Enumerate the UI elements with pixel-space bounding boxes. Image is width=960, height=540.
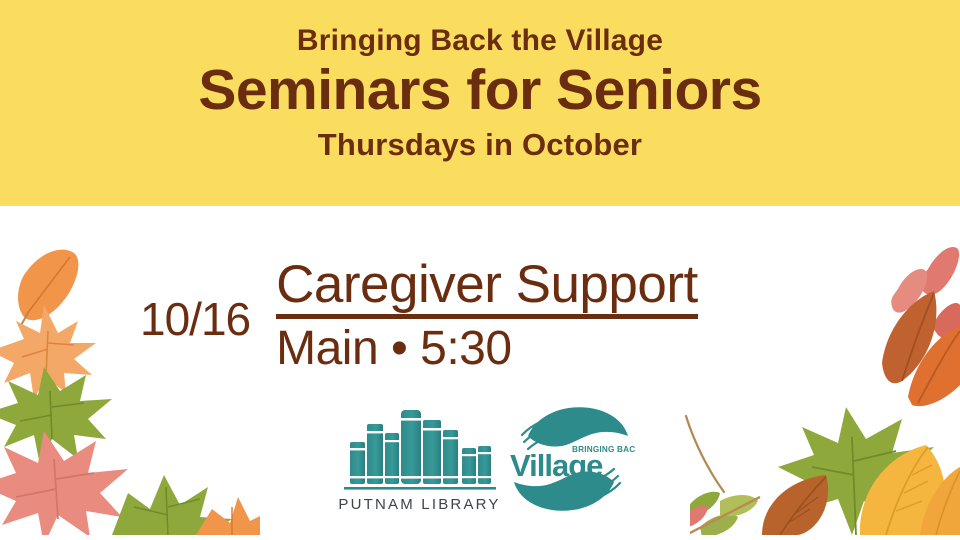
event-title: Caregiver Support: [276, 258, 698, 319]
event-location-time: Main • 5:30: [276, 324, 698, 374]
logo-strip: PUTNAM LIBRARY: [330, 402, 650, 528]
seminar-flyer: Bringing Back the Village Seminars for S…: [0, 0, 960, 540]
putnam-library-logo[interactable]: PUTNAM LIBRARY: [340, 402, 500, 513]
event-date: 10/16: [140, 258, 250, 342]
event-entry: 10/16 Caregiver Support Main • 5:30: [140, 258, 698, 374]
bringing-back-the-village-logo[interactable]: BRINGING BACK THE Village: [506, 402, 641, 519]
svg-text:Village: Village: [510, 448, 603, 483]
banner-headline-main: Seminars for Seniors: [198, 62, 761, 119]
event-details: Caregiver Support Main • 5:30: [276, 258, 698, 374]
library-wordmark: PUTNAM LIBRARY: [338, 496, 500, 513]
banner-headline-top: Bringing Back the Village: [297, 26, 663, 56]
cupped-hands-icon: BRINGING BACK THE Village: [506, 402, 636, 514]
banner-headline-sub: Thursdays in October: [318, 129, 642, 160]
library-books-icon: [342, 402, 498, 494]
village-wordmark: Village: [510, 448, 603, 483]
header-banner: Bringing Back the Village Seminars for S…: [0, 0, 960, 206]
leaf-stem-curl-decoration: [672, 412, 732, 507]
